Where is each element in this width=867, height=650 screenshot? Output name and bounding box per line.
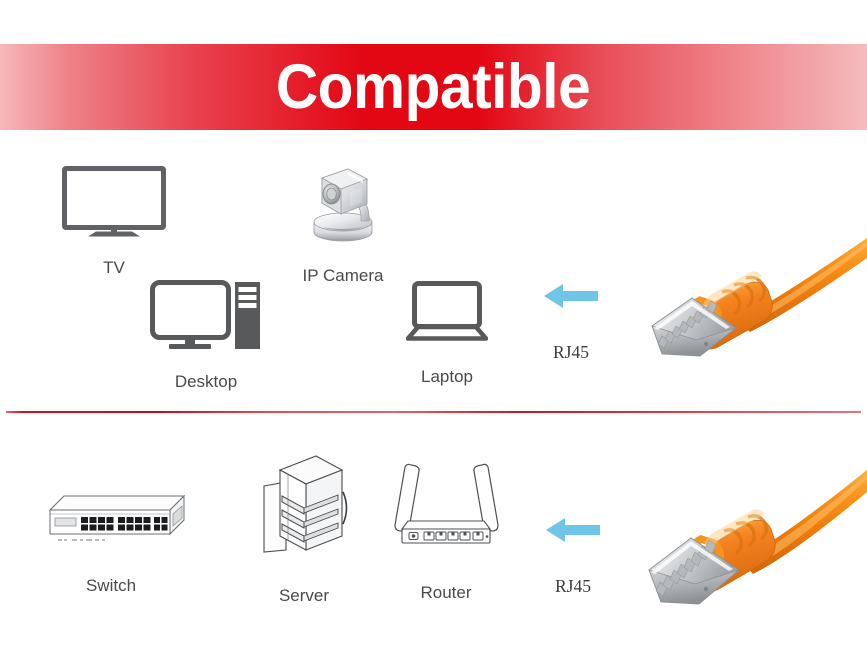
device-router: Router [390,455,502,601]
ip-camera-icon [298,158,388,255]
tv-icon [62,166,166,243]
device-label: Laptop [421,368,473,385]
device-label: Server [279,587,329,604]
section-divider [6,411,861,413]
device-label: Switch [86,577,136,594]
ethernet-cable-icon [645,462,867,608]
arrow-left-icon [543,281,599,316]
desktop-computer-icon [150,280,262,357]
wireless-router-icon [390,455,502,562]
device-ip-camera: IP Camera [298,158,388,284]
header-banner: Compatible [0,44,867,130]
device-switch: Switch [36,488,186,594]
device-server: Server [258,452,350,604]
device-label: TV [103,259,125,276]
laptop-icon [406,281,488,346]
device-desktop: Desktop [150,280,262,390]
connector-rj45-bottom: RJ45 [545,515,601,596]
device-laptop: Laptop [406,281,488,385]
device-label: IP Camera [303,267,384,284]
network-switch-icon [36,488,186,555]
device-label: Desktop [175,373,237,390]
device-tv: TV [62,166,166,276]
arrow-left-icon [545,515,601,550]
connector-label: RJ45 [553,344,589,362]
connector-label: RJ45 [555,578,591,596]
connector-rj45-top: RJ45 [543,281,599,362]
ethernet-cable-icon [650,228,867,358]
device-label: Router [420,584,471,601]
server-rack-icon [258,452,350,565]
page-title: Compatible [276,56,590,119]
